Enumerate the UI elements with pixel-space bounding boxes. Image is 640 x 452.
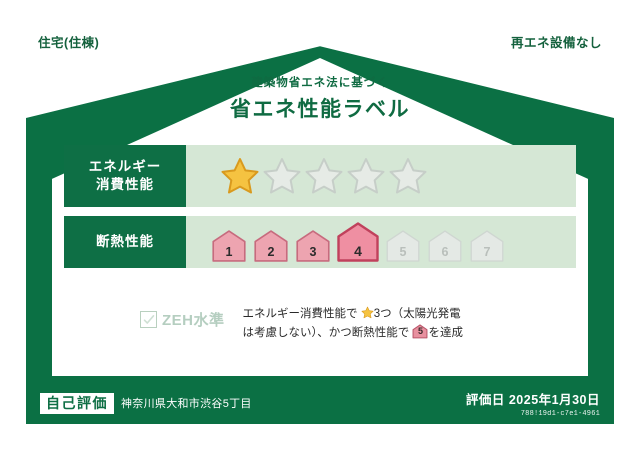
insulation-level-number: 7 [468,245,506,259]
inline-star-icon [361,306,374,319]
insulation-level-1: 1 [210,229,248,263]
insulation-level-number: 4 [336,243,380,259]
zeh-desc-line2-b: を達成 [428,327,463,339]
insulation-level-2: 2 [252,229,290,263]
insulation-level-number: 3 [294,245,332,259]
insulation-level-3: 3 [294,229,332,263]
star-empty-icon [262,156,302,196]
insulation-level-scale: 1234567 [210,221,506,263]
star-empty-icon [346,156,386,196]
inline-house-number: 5 [412,324,428,339]
zeh-description-line1: エネルギー消費性能で 3つ（太陽光発電 [243,305,463,324]
zeh-badge: ZEH水準 [140,305,225,330]
star-empty-icon [304,156,344,196]
insulation-level-4: 4 [336,221,380,263]
footer-left: 自己評価 神奈川県大和市渋谷5丁目 [40,393,252,414]
energy-performance-label: 住宅(住棟) 再エネ設備なし 建築物省エネ法に基づく 省エネ性能ラベル エネルギ… [0,0,640,452]
energy-performance-value [186,145,576,207]
insulation-label-text: 断熱性能 [96,233,154,251]
checkbox-icon [140,311,157,328]
zeh-desc-line1-b: 3つ（太陽光発電 [374,308,461,320]
insulation-level-6: 6 [426,229,464,263]
building-type-tag: 住宅(住棟) [26,28,111,55]
insulation-performance-label: 断熱性能 [64,216,186,268]
insulation-level-number: 5 [384,245,422,259]
insulation-performance-value: 1234567 [186,216,576,268]
evaluation-id: 788!19d1-c7e1-4961 [466,410,600,418]
zeh-label: ZEH水準 [162,309,225,330]
energy-label-line2: 消費性能 [96,176,154,194]
zeh-desc-line2-a: は考慮しない）、かつ断熱性能で [243,327,410,339]
zeh-section: ZEH水準 エネルギー消費性能で 3つ（太陽光発電 は考慮しない）、かつ断熱性能… [140,305,463,343]
energy-label-line1: エネルギー [89,158,162,176]
insulation-performance-row: 断熱性能 1234567 [64,216,576,268]
insulation-level-5: 5 [384,229,422,263]
zeh-desc-line1-a: エネルギー消費性能で [243,308,358,320]
energy-performance-row: エネルギー 消費性能 [64,145,576,207]
property-address: 神奈川県大和市渋谷5丁目 [121,395,252,411]
star-rating [220,156,428,196]
footer-right: 評価日 2025年1月30日 788!19d1-c7e1-4961 [466,389,600,418]
insulation-level-number: 1 [210,245,248,259]
insulation-level-number: 6 [426,245,464,259]
star-filled-icon [220,156,260,196]
zeh-description: エネルギー消費性能で 3つ（太陽光発電 は考慮しない）、かつ断熱性能で 5 を達… [235,305,463,343]
evaluation-type-badge: 自己評価 [40,393,114,414]
inline-house-icon: 5 [412,324,428,339]
metric-rows: エネルギー 消費性能 断熱性能 1234567 [64,145,576,277]
zeh-description-line2: は考慮しない）、かつ断熱性能で 5 を達成 [243,324,463,343]
title-subtitle: 建築物省エネ法に基づく [0,74,640,90]
label-title: 建築物省エネ法に基づく 省エネ性能ラベル [0,74,640,123]
energy-performance-label: エネルギー 消費性能 [64,145,186,207]
insulation-level-7: 7 [468,229,506,263]
evaluation-date: 評価日 2025年1月30日 [466,389,600,408]
renewable-equipment-tag: 再エネ設備なし [499,28,614,55]
title-main: 省エネ性能ラベル [0,93,640,123]
star-empty-icon [388,156,428,196]
insulation-level-number: 2 [252,245,290,259]
